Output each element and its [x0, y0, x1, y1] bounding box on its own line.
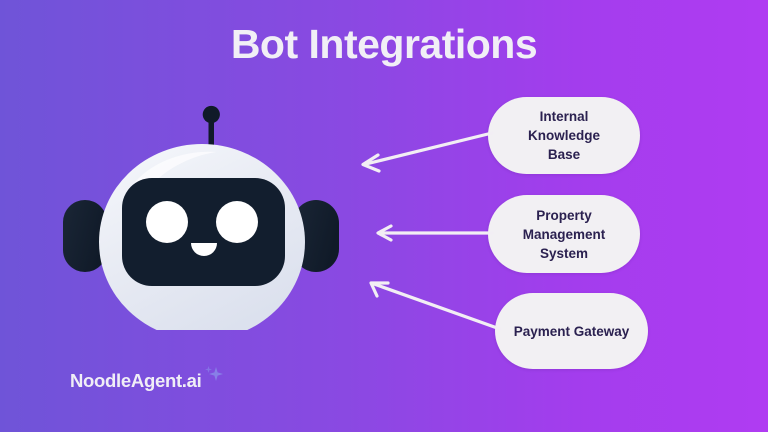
page-title: Bot Integrations: [0, 20, 768, 68]
brand-logo: NoodleAgent.ai: [70, 368, 224, 394]
label-line: Internal: [528, 107, 600, 126]
integration-pill-label: Internal Knowledge Base: [514, 107, 614, 164]
integration-pill-property-management-system[interactable]: Property Management System: [488, 195, 640, 273]
integration-pill-payment-gateway[interactable]: Payment Gateway: [495, 293, 648, 369]
arrow-line-knowledge-base: [366, 133, 492, 164]
arrow-head-payment-gateway: [371, 283, 388, 296]
label-line: Payment Gateway: [514, 322, 630, 341]
arrow-head-knowledge-base: [363, 155, 379, 171]
antenna-ball-icon: [203, 106, 220, 123]
chatbot-mascot-illustration: [50, 100, 350, 330]
robot-eye-right: [216, 201, 258, 243]
sparkle-icon: [202, 364, 224, 391]
slide-canvas: Bot Integrations: [0, 0, 768, 432]
arrow-line-payment-gateway: [374, 284, 500, 329]
integration-pill-label: Payment Gateway: [500, 322, 644, 341]
label-line: Knowledge: [528, 126, 600, 145]
arrow-head-property-management: [378, 226, 391, 240]
robot-eye-left: [146, 201, 188, 243]
label-line: Property: [523, 206, 606, 225]
label-line: Management: [523, 225, 606, 244]
integration-pill-label: Property Management System: [509, 206, 620, 263]
robot-face-screen: [122, 178, 285, 286]
label-line: System: [523, 244, 606, 263]
brand-logo-text: NoodleAgent.ai: [70, 370, 201, 392]
integration-pill-internal-knowledge-base[interactable]: Internal Knowledge Base: [488, 97, 640, 174]
label-line: Base: [528, 145, 600, 164]
